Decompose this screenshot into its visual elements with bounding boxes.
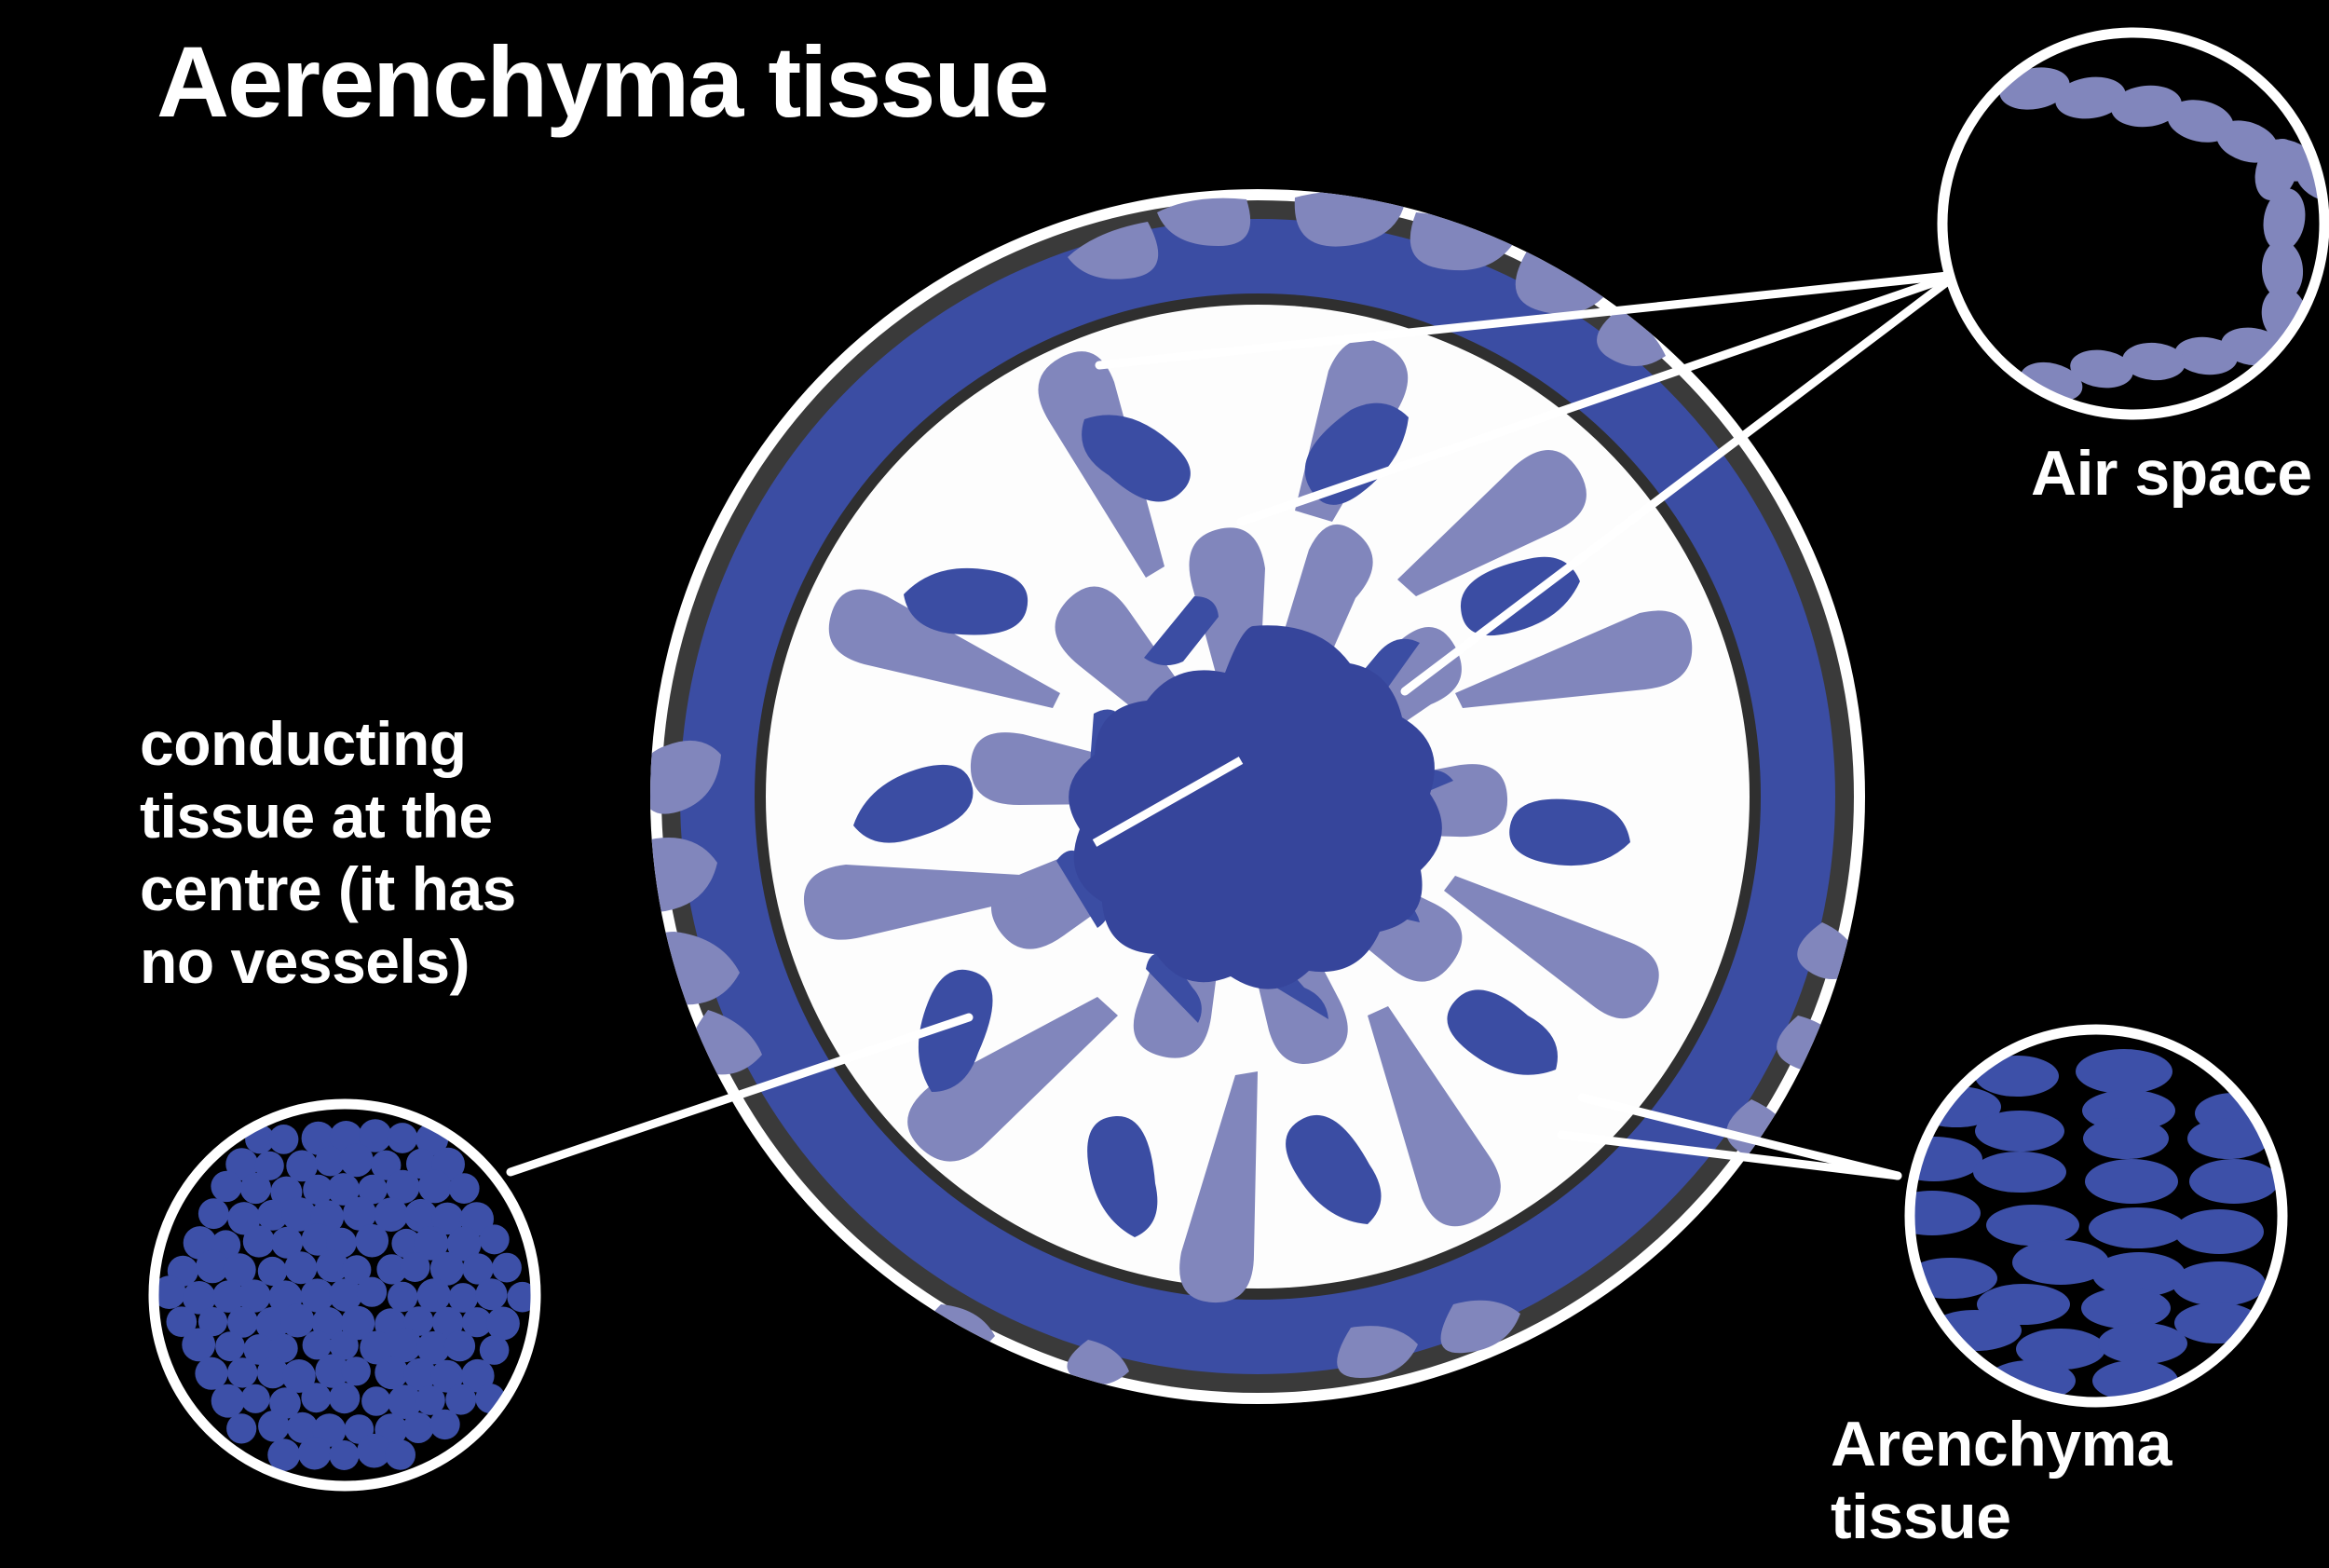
page-title: Aerenchyma tissue	[157, 26, 1047, 139]
arenchyma-inset	[1884, 1029, 2282, 1402]
air-space-inset	[1925, 33, 2329, 437]
label-air-space: Air space	[2031, 438, 2312, 509]
diagram-canvas: Aerenchyma tissue conducting tissue at t…	[0, 0, 2329, 1568]
label-arenchyma-tissue: Arenchyma tissue	[1831, 1409, 2172, 1553]
conducting-tissue-inset	[153, 1104, 538, 1486]
label-conducting-tissue: conducting tissue at the centre (it has …	[140, 708, 587, 999]
